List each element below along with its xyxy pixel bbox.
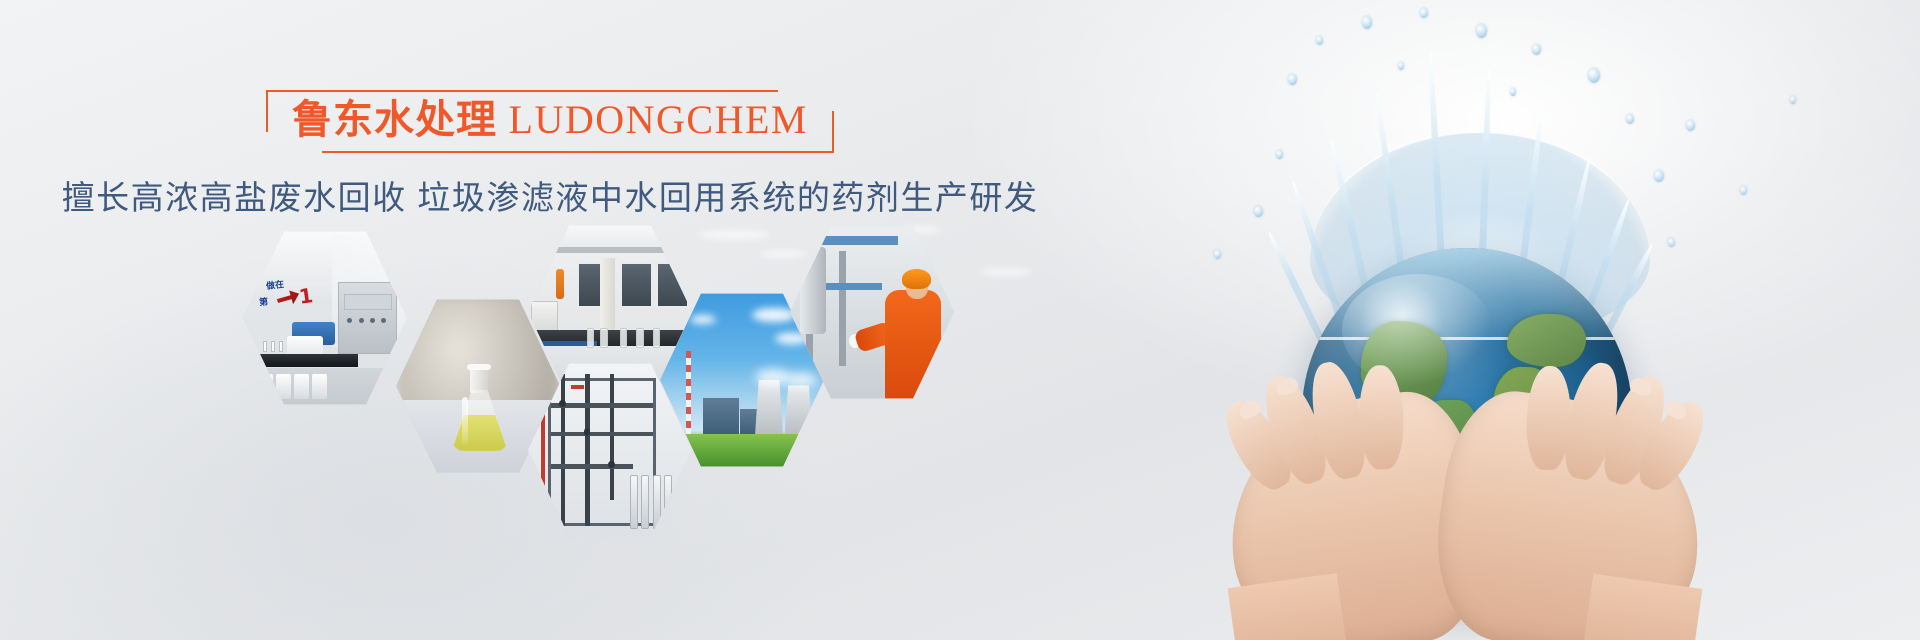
- water-drop: [1214, 250, 1221, 259]
- wall-slogan-line1: 做在: [265, 277, 284, 292]
- hero-banner: 鲁东水处理 LUDONGCHEM 擅长高浓高盐废水回收 垃圾渗滤液中水回用系统的…: [0, 0, 1920, 640]
- water-drop: [1740, 186, 1747, 195]
- landmass-eurasia: [1507, 314, 1586, 367]
- wall-slogan-line2: 第: [259, 294, 269, 308]
- hex-photo-lab-production-room[interactable]: 做在 第 1: [243, 228, 407, 408]
- water-drop: [1790, 96, 1796, 104]
- hexagon-photo-cluster: 做在 第 1: [0, 0, 1000, 640]
- photo-lab-production-room: 做在 第 1: [243, 228, 407, 408]
- right-hand: [1424, 383, 1716, 640]
- wall-slogan-number: 1: [297, 283, 314, 309]
- water-globe-scene: [1090, 0, 1920, 640]
- water-drop: [1686, 120, 1695, 131]
